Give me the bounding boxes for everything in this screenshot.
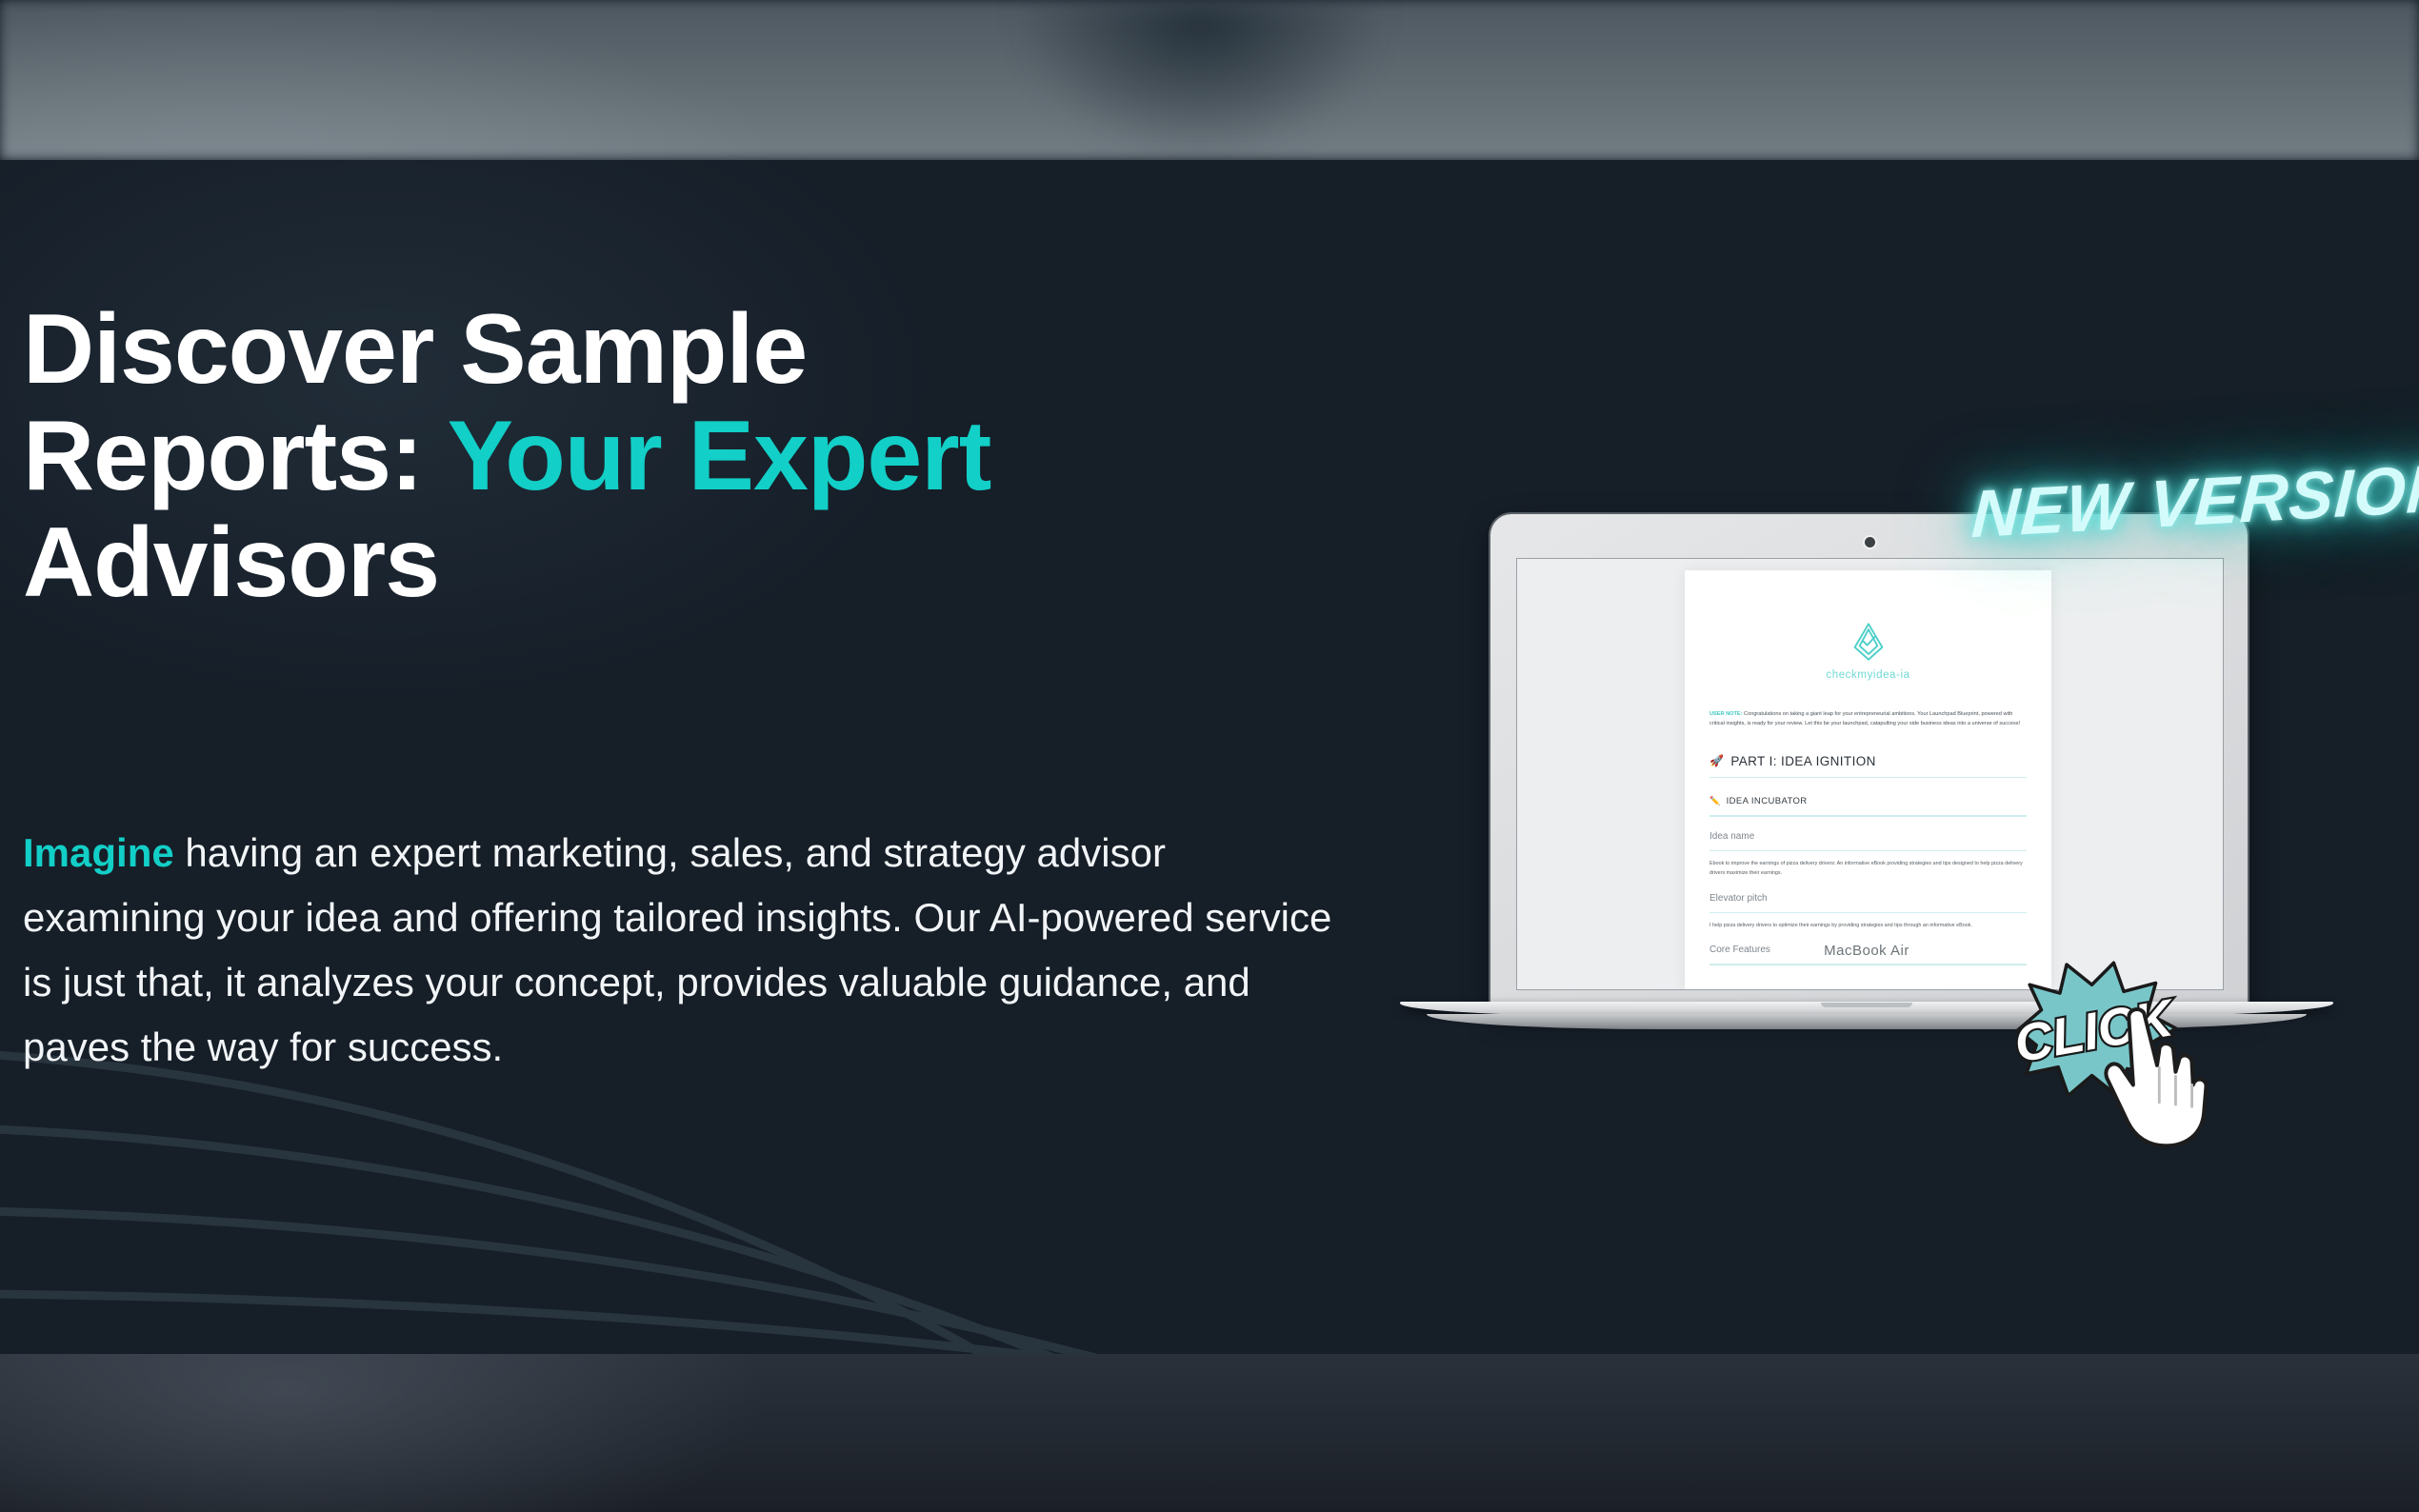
divider	[1709, 777, 2027, 779]
field-value-elevator-pitch: I help pizza delivery drivers to optimiz…	[1709, 921, 2027, 930]
headline-line-3: Advisors	[23, 507, 439, 618]
hero-description: Imagine having an expert marketing, sale…	[23, 821, 1356, 1080]
hand-cursor-icon	[2081, 998, 2233, 1150]
brand-logo: checkmyidea-ia	[1709, 620, 2027, 681]
laptop-model-label: MacBook Air	[1824, 943, 1909, 959]
report-document[interactable]: checkmyidea-ia USER NOTE: Congratulation…	[1685, 570, 2051, 989]
divider	[1709, 815, 2027, 817]
field-label-elevator-pitch: Elevator pitch	[1709, 893, 2027, 904]
hero-description-body: having an expert marketing, sales, and s…	[23, 830, 1331, 1069]
laptop-lid: checkmyidea-ia USER NOTE: Congratulation…	[1490, 514, 2248, 1009]
webcam-icon	[1865, 537, 1875, 547]
top-chrome-shadow	[1000, 0, 1400, 160]
divider	[1709, 850, 2027, 852]
headline-line-2-accent: Your Expert	[448, 401, 991, 511]
laptop-screen: checkmyidea-ia USER NOTE: Congratulation…	[1516, 558, 2224, 990]
bottom-section	[0, 1354, 2419, 1512]
field-label-idea-name: Idea name	[1709, 831, 2027, 842]
user-note: USER NOTE: Congratulations on taking a g…	[1709, 709, 2027, 729]
diamond-check-icon	[1847, 620, 1890, 664]
field-value-idea-name: Ebook to improve the earnings of pizza d…	[1709, 859, 2027, 879]
laptop-mockup[interactable]: checkmyidea-ia USER NOTE: Congratulation…	[1400, 354, 2333, 1059]
document-section-heading: ✏️ IDEA INCUBATOR	[1709, 796, 2027, 806]
headline-line-1: Discover Sample	[23, 294, 807, 405]
page-title: Discover Sample Reports: Your Expert Adv…	[23, 296, 1451, 617]
divider	[1709, 964, 2027, 965]
rocket-icon: 🚀	[1709, 755, 1724, 766]
document-part-heading: 🚀 PART I: IDEA IGNITION	[1709, 754, 2027, 768]
hero-section: Discover Sample Reports: Your Expert Adv…	[0, 160, 2419, 1354]
document-section-title: IDEA INCUBATOR	[1727, 796, 1808, 806]
user-note-body: Congratulations on taking a giant leap f…	[1709, 711, 2020, 726]
user-note-tag: USER NOTE:	[1709, 711, 1743, 717]
brand-logo-text: checkmyidea-ia	[1709, 669, 2027, 681]
pencil-icon: ✏️	[1709, 797, 1721, 806]
headline-line-2-plain: Reports:	[23, 401, 448, 511]
laptop-base-notch	[1821, 1003, 1912, 1007]
hero-description-accent: Imagine	[23, 830, 174, 875]
document-part-title: PART I: IDEA IGNITION	[1730, 754, 1875, 768]
hero-page: Discover Sample Reports: Your Expert Adv…	[0, 0, 2419, 1512]
divider	[1709, 912, 2027, 914]
